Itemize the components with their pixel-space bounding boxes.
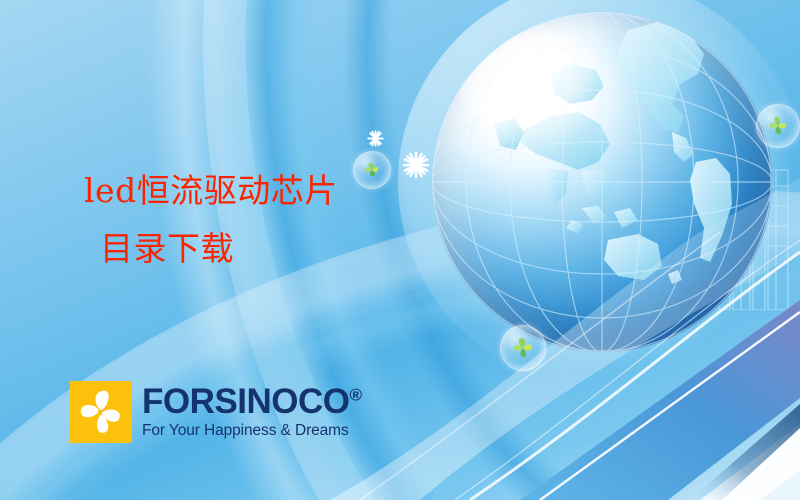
logo-tagline: For Your Happiness & Dreams: [142, 422, 361, 440]
headline-line-1: led恒流驱动芯片: [84, 162, 414, 220]
company-logo: FORSINOCO® For Your Happiness & Dreams: [70, 381, 361, 443]
headline-text-block: led恒流驱动芯片 目录下载: [84, 162, 414, 278]
logo-company-name-text: FORSINOCO: [142, 382, 349, 421]
logo-company-name: FORSINOCO®: [142, 385, 361, 419]
registered-trademark-icon: ®: [349, 385, 361, 404]
forsinoco-pinwheel-mark: [70, 381, 132, 443]
sparkle-flower-icon-small: [367, 130, 384, 147]
logo-wordmark: FORSINOCO® For Your Happiness & Dreams: [142, 385, 361, 440]
pinwheel-icon: [510, 335, 536, 361]
bubble-3: [756, 104, 800, 148]
headline-line-2: 目录下载: [84, 220, 414, 278]
promo-banner: led恒流驱动芯片 目录下载 FORSINOCO® For Your Happi…: [0, 0, 800, 500]
bubble-2: [500, 325, 546, 371]
four-petal-icon: [70, 381, 132, 443]
pinwheel-icon: [766, 114, 790, 138]
